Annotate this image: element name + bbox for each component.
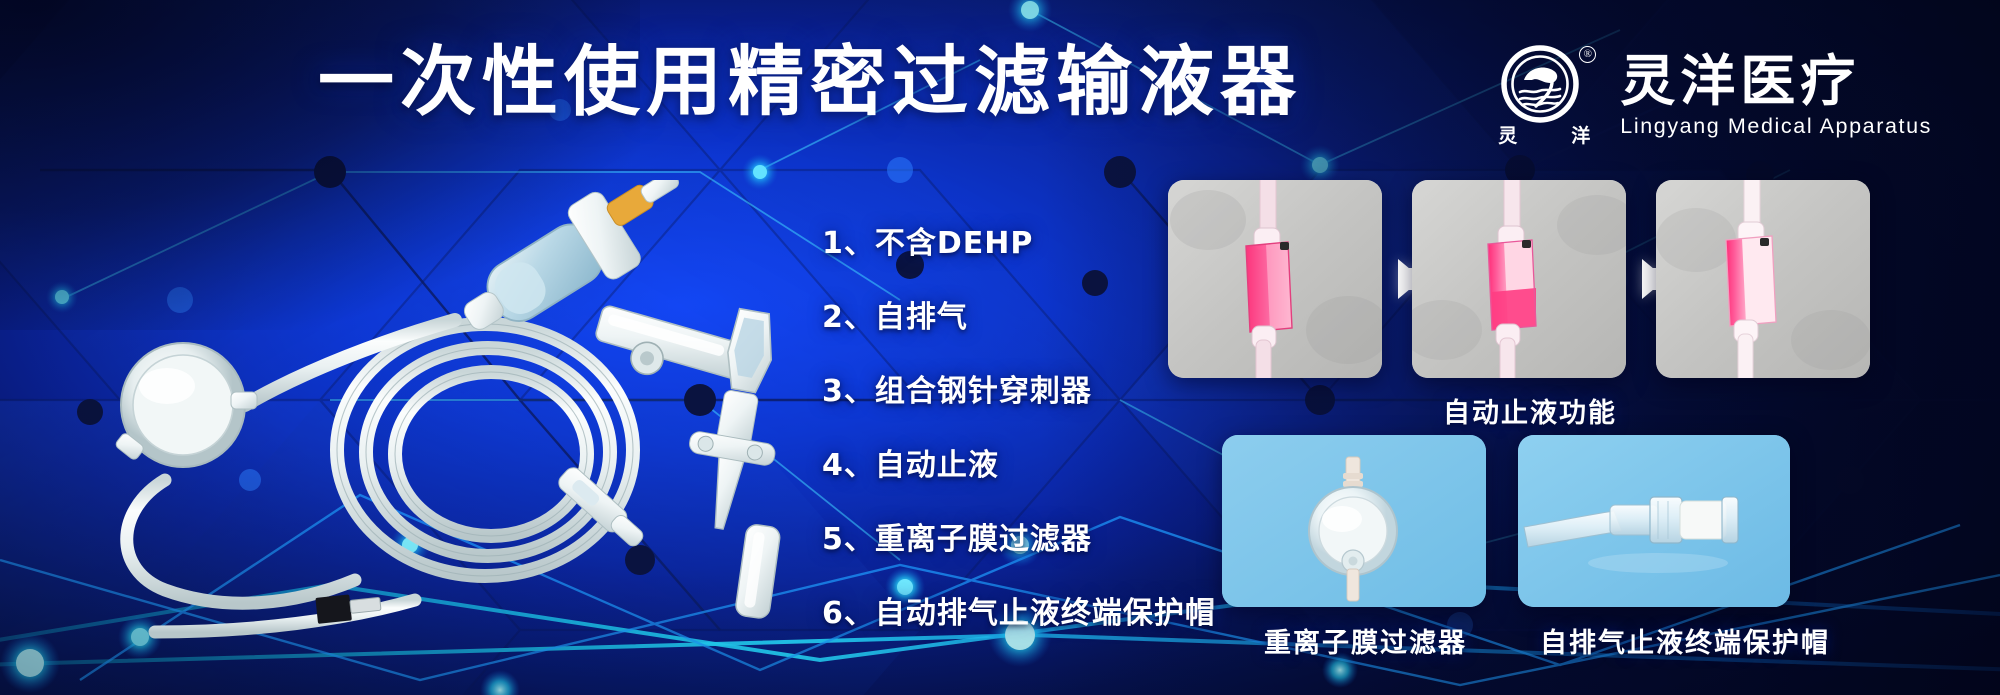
detail-photo-filter — [1222, 435, 1486, 607]
logo-mark-char-left: 灵 — [1498, 121, 1517, 148]
feature-index-6: 6、 — [822, 596, 875, 631]
demo-frame-full — [1168, 180, 1382, 378]
feature-label-6: 自动排气止液终端保护帽 — [875, 596, 1216, 631]
page-title: 一次性使用精密过滤输液器 — [318, 44, 1302, 120]
feature-index-2: 2、 — [822, 300, 875, 335]
feature-item-2: 2、自排气 — [822, 292, 1216, 336]
feature-label-2: 自排气 — [875, 300, 968, 335]
feature-index-1: 1、 — [822, 226, 875, 261]
feature-item-1: 1、不含DEHP — [822, 218, 1216, 262]
product-banner: 一次性使用精密过滤输液器 ® 灵 洋 灵洋医疗 Lingyang Medical… — [0, 0, 2000, 695]
demo-frame-stopped — [1656, 180, 1870, 378]
feature-label-4: 自动止液 — [875, 448, 999, 483]
feature-label-5: 重离子膜过滤器 — [875, 522, 1092, 557]
company-name-cn: 灵洋医疗 — [1620, 53, 1932, 111]
company-name-en: Lingyang Medical Apparatus — [1620, 114, 1932, 139]
demo-frame-half — [1412, 180, 1626, 378]
caption-heavy-ion-filter: 重离子膜过滤器 — [1264, 621, 1467, 660]
feature-item-4: 4、自动止液 — [822, 440, 1216, 484]
feature-index-3: 3、 — [822, 374, 875, 409]
feature-item-3: 3、组合钢针穿刺器 — [822, 366, 1216, 410]
detail-photo-protective-cap — [1518, 435, 1790, 607]
feature-label-3: 组合钢针穿刺器 — [875, 374, 1092, 409]
lingyang-circular-emblem-icon: ® 灵 洋 — [1494, 44, 1594, 148]
feature-list: 1、不含DEHP 2、自排气 3、组合钢针穿刺器 4、自动止液 5、重离子膜过滤… — [822, 218, 1216, 632]
feature-label-1: 不含DEHP — [875, 226, 1034, 261]
feature-item-5: 5、重离子膜过滤器 — [822, 514, 1216, 558]
product-photo-infusion-set — [55, 180, 815, 650]
caption-protective-cap: 自排气止液终端保护帽 — [1540, 621, 1830, 660]
feature-index-5: 5、 — [822, 522, 875, 557]
feature-item-6: 6、自动排气止液终端保护帽 — [822, 588, 1216, 632]
feature-index-4: 4、 — [822, 448, 875, 483]
logo-mark-char-right: 洋 — [1571, 121, 1590, 148]
caption-auto-stop-function: 自动止液功能 — [1443, 391, 1617, 430]
brand-logo: ® 灵 洋 灵洋医疗 Lingyang Medical Apparatus — [1494, 44, 1932, 148]
